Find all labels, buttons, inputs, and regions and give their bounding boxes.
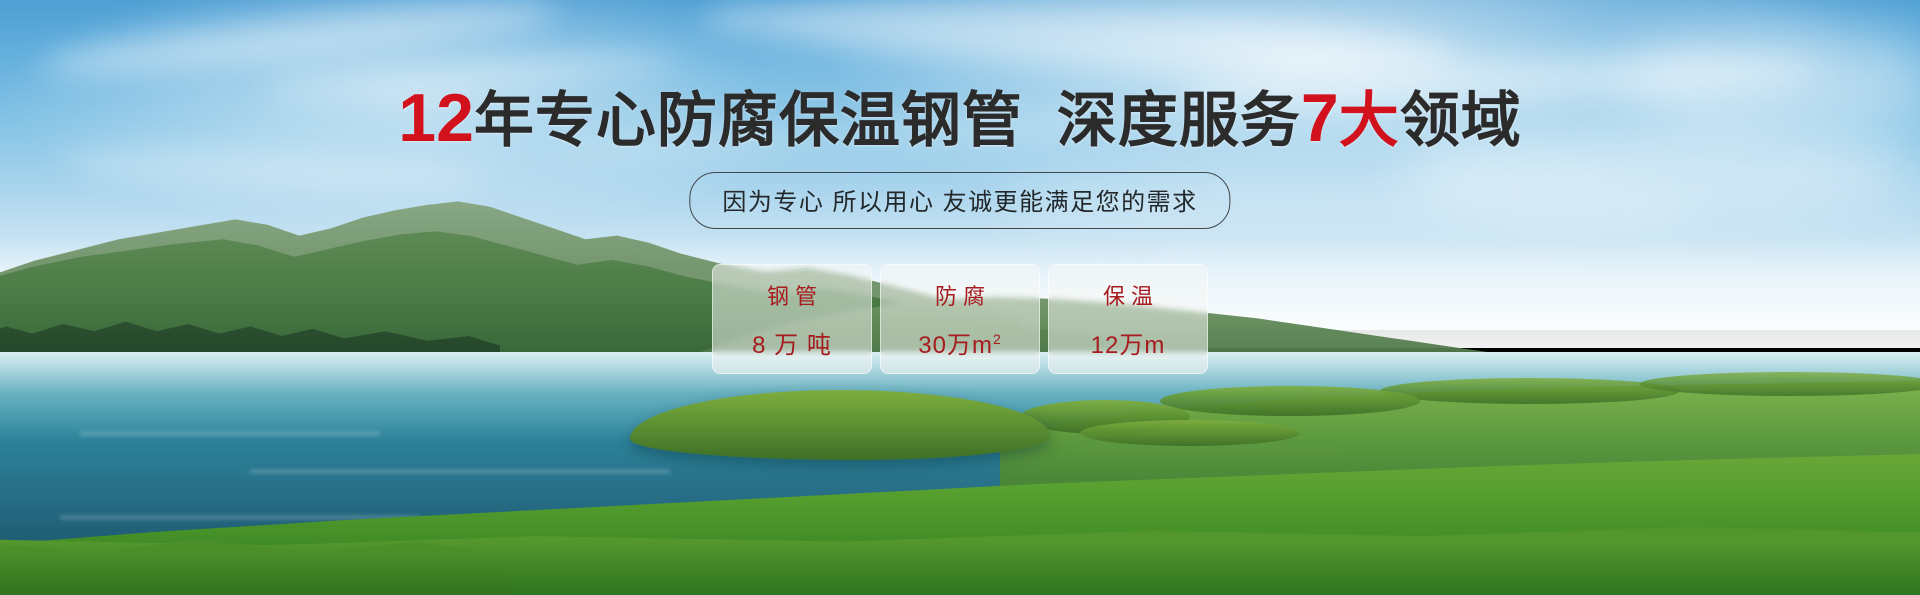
stat-card-anticorrosion: 防腐 30万m2	[880, 264, 1040, 374]
headline-text-secondary: 深度服务	[1057, 87, 1301, 154]
hero-banner: 12年专心防腐保温钢管深度服务7大领域 因为专心 所以用心 友诚更能满足您的需求…	[0, 0, 1920, 595]
stat-card-value: 8 万 吨	[752, 325, 832, 360]
stat-card-label: 防腐	[929, 279, 991, 311]
headline: 12年专心防腐保温钢管深度服务7大领域	[0, 84, 1920, 152]
stat-card-value: 12万m	[1091, 325, 1166, 360]
stat-card-value-text: 12万m	[1091, 332, 1166, 359]
stats-card-group: 钢管 8 万 吨 防腐 30万m2 保温 12万m	[712, 264, 1208, 374]
headline-years-number: 12	[398, 80, 474, 156]
banner-content: 12年专心防腐保温钢管深度服务7大领域 因为专心 所以用心 友诚更能满足您的需求…	[0, 0, 1920, 595]
stat-card-label: 保温	[1097, 279, 1159, 311]
headline-fields-number: 7	[1301, 80, 1339, 156]
stat-card-steel-pipe: 钢管 8 万 吨	[712, 264, 872, 374]
stat-card-value-text: 8 万 吨	[752, 332, 832, 359]
stat-card-value: 30万m2	[918, 325, 1001, 360]
headline-fields-unit: 大	[1339, 87, 1400, 154]
subtitle-text: 因为专心 所以用心 友诚更能满足您的需求	[722, 189, 1197, 216]
headline-text-primary: 年专心防腐保温钢管	[474, 87, 1023, 154]
stat-card-label: 钢管	[761, 279, 823, 311]
stat-card-value-exponent: 2	[993, 331, 1002, 347]
stat-card-value-text: 30万m	[918, 332, 993, 359]
stat-card-insulation: 保温 12万m	[1048, 264, 1208, 374]
subtitle-pill: 因为专心 所以用心 友诚更能满足您的需求	[689, 172, 1230, 229]
headline-text-tertiary: 领域	[1400, 87, 1522, 154]
